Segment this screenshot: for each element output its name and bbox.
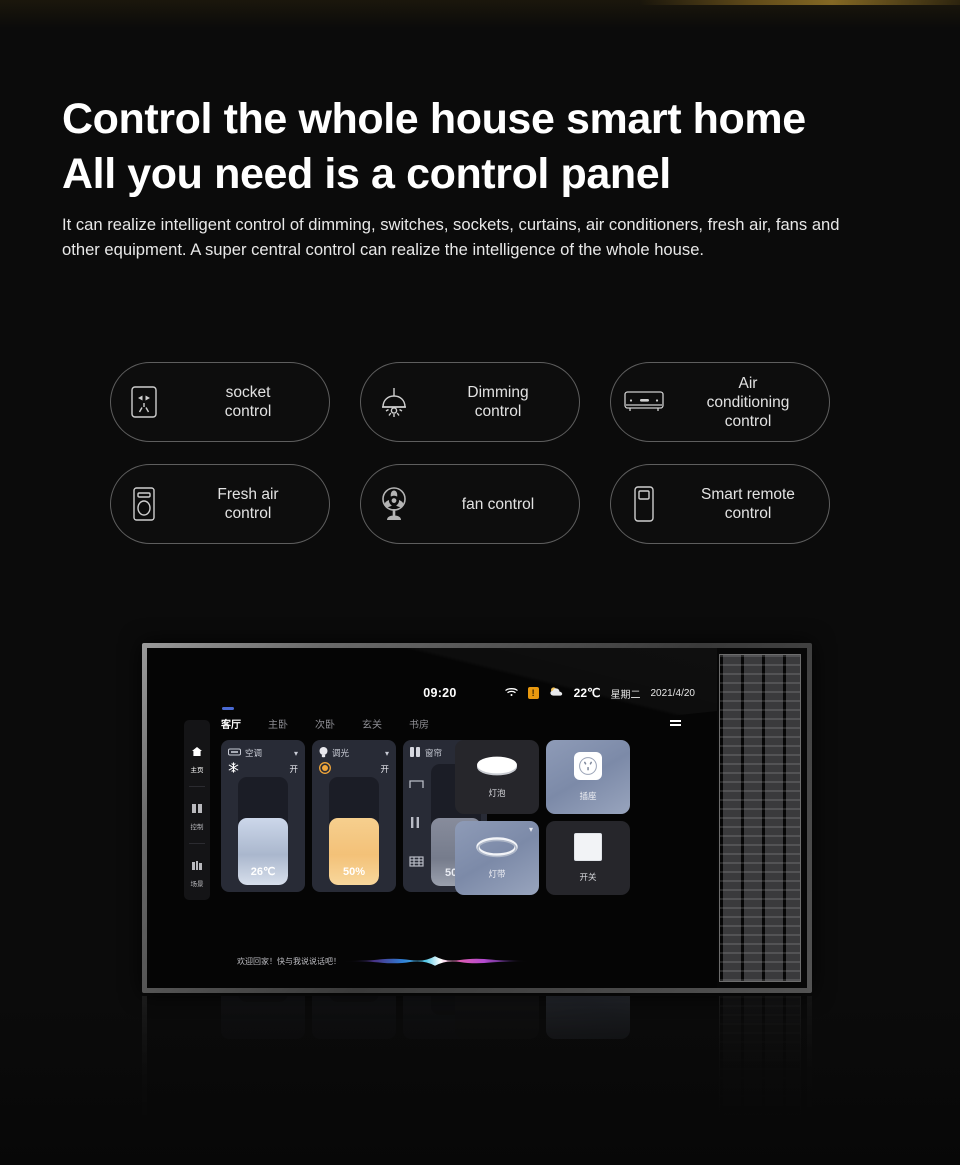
card-state[interactable]: 开 (380, 763, 389, 775)
reflection-tiles (455, 996, 630, 1039)
remote-control-icon (611, 485, 677, 523)
temperature-slider[interactable]: 26℃ (238, 777, 288, 885)
notification-badge[interactable]: ! (528, 687, 539, 699)
device-tile-grid: 灯泡 (455, 740, 630, 895)
switch-icon (574, 833, 602, 866)
page-root: Control the whole house smart home All y… (0, 0, 960, 1165)
reflection-tile (546, 996, 630, 1039)
tile-light-strip[interactable]: ▾ 灯带 (455, 821, 539, 895)
reflection-grille (719, 996, 801, 1125)
tab-entrance[interactable]: 玄关 (362, 716, 382, 731)
feature-pill-fan-control[interactable]: fan control (360, 464, 580, 544)
tab-master-bedroom[interactable]: 主卧 (268, 716, 288, 731)
curtain-control-group (409, 776, 424, 872)
status-time: 09:20 (423, 686, 456, 700)
feature-pill-fresh-air-control[interactable]: Fresh air control (110, 464, 330, 544)
bulb-icon (319, 747, 328, 760)
light-ring-icon (475, 836, 519, 863)
floor-gradient (0, 1000, 960, 1165)
feature-pill-air-conditioning-control[interactable]: Air conditioning control (610, 362, 830, 442)
sidebar-item-label: 控制 (191, 821, 204, 831)
device-inner: 09:20 ! (147, 648, 807, 988)
panel-ui-body: 主页 控制 (185, 712, 685, 962)
sidebar-item-label: 主页 (191, 764, 204, 774)
scene-icon (192, 857, 202, 875)
list-menu-icon[interactable] (670, 720, 681, 726)
tile-label: 灯带 (488, 868, 505, 880)
slider-fill-value: 26℃ (238, 818, 288, 885)
reflection-tile (455, 996, 539, 1039)
card-subrow: 开 (228, 760, 298, 777)
curtain-icon (410, 747, 421, 759)
reflection-ui (185, 996, 685, 1067)
status-temperature: 22℃ (574, 686, 601, 700)
feature-pill-label: Dimming control (427, 383, 579, 421)
reflection-card (312, 996, 396, 1039)
feature-pill-label: Smart remote control (677, 485, 829, 523)
ac-unit-icon (228, 748, 241, 758)
tile-switch[interactable]: 开关 (546, 821, 630, 895)
status-date: 2021/4/20 (651, 688, 696, 699)
socket-icon (574, 752, 602, 785)
panel-screen: 09:20 ! (147, 648, 717, 988)
tab-living-room[interactable]: 客厅 (221, 716, 241, 731)
fan-icon (361, 486, 427, 522)
voice-prompt-text: 欢迎回家！快与我说说话吧！ (237, 956, 341, 967)
card-header: 调光 ▾ (319, 746, 389, 760)
card-subrow: 开 (319, 760, 389, 777)
reflection-cards (221, 996, 487, 1039)
card-title: 空调 (245, 747, 290, 759)
curtain-pause-icon[interactable] (409, 815, 424, 833)
sidebar-item-scene[interactable]: 场景 (184, 844, 210, 900)
curtain-close-icon[interactable] (409, 854, 424, 872)
device-reflection: 欢迎回家！快与我说说话吧！ (142, 996, 812, 1136)
control-icon (192, 800, 202, 818)
feature-pill-smart-remote-control[interactable]: Smart remote control (610, 464, 830, 544)
room-tab-bar: 客厅 主卧 次卧 玄关 书房 (221, 712, 681, 734)
reflection-screen: 欢迎回家！快与我说说话吧！ (147, 996, 717, 1131)
brightness-slider[interactable]: 50% (329, 777, 379, 885)
feature-pill-label: socket control (177, 383, 329, 421)
page-title: Control the whole house smart home All y… (62, 92, 902, 202)
feature-pill-label: fan control (427, 495, 579, 514)
sidebar-item-label: 场景 (191, 878, 204, 888)
tile-label: 灯泡 (488, 787, 505, 799)
device-bezel: 09:20 ! (142, 643, 812, 993)
slider-card-list: 空调 ▾ (221, 740, 487, 892)
page-description: It can realize intelligent control of di… (62, 212, 852, 262)
slider-fill-value: 50% (329, 818, 379, 885)
card-title: 调光 (332, 747, 381, 759)
socket-icon (111, 385, 177, 419)
feature-pill-socket-control[interactable]: socket control (110, 362, 330, 442)
feature-pill-list: socket control Dimming control (110, 362, 840, 544)
card-air-conditioner[interactable]: 空调 ▾ (221, 740, 305, 892)
tab-second-bedroom[interactable]: 次卧 (315, 716, 335, 731)
sidebar-item-home[interactable]: 主页 (184, 730, 210, 786)
voice-waveform-icon (340, 953, 530, 969)
tile-socket[interactable]: 插座 (546, 740, 630, 814)
curtain-open-icon[interactable] (409, 776, 424, 794)
air-conditioner-icon (611, 388, 677, 416)
fresh-air-unit-icon (111, 486, 177, 522)
voice-assistant-bar[interactable]: 欢迎回家！快与我说说话吧！ (185, 950, 685, 972)
reflection-card (221, 996, 305, 1039)
tile-label: 插座 (579, 790, 596, 802)
card-header: 空调 ▾ (228, 746, 298, 760)
tab-study[interactable]: 书房 (409, 716, 429, 731)
card-dimming[interactable]: 调光 ▾ 开 50% (312, 740, 396, 892)
feature-pill-dimming-control[interactable]: Dimming control (360, 362, 580, 442)
reflection-inner: 欢迎回家！快与我说说话吧！ (147, 996, 807, 1131)
reflection-bezel: 欢迎回家！快与我说说话吧！ (142, 996, 812, 1136)
dim-circle-icon[interactable] (319, 762, 331, 776)
reflection-card (403, 996, 487, 1039)
feature-pill-label: Fresh air control (177, 485, 329, 523)
chevron-down-icon[interactable]: ▾ (385, 749, 389, 758)
home-icon (192, 743, 202, 761)
tile-ceiling-light[interactable]: 灯泡 (455, 740, 539, 814)
speaker-grille (719, 654, 801, 982)
tile-label: 开关 (579, 871, 596, 883)
card-state[interactable]: 开 (289, 763, 298, 775)
feature-pill-label: Air conditioning control (677, 374, 829, 431)
chevron-down-icon[interactable]: ▾ (294, 749, 298, 758)
ceiling-light-icon (475, 755, 519, 782)
wifi-icon (505, 687, 518, 700)
top-edge-highlight (640, 0, 960, 5)
sidebar-item-control[interactable]: 控制 (184, 787, 210, 843)
snowflake-icon[interactable] (228, 762, 239, 775)
status-bar: 09:20 ! (147, 683, 717, 703)
panel-sidebar: 主页 控制 (184, 720, 210, 900)
partly-cloudy-icon (549, 686, 564, 701)
pendant-lamp-icon (361, 385, 427, 419)
headline-line-2: All you need is a control panel (62, 147, 902, 202)
control-panel-device: 09:20 ! (142, 643, 812, 993)
headline-line-1: Control the whole house smart home (62, 95, 806, 143)
status-weekday: 星期二 (611, 686, 641, 701)
chevron-down-icon[interactable]: ▾ (529, 825, 533, 834)
